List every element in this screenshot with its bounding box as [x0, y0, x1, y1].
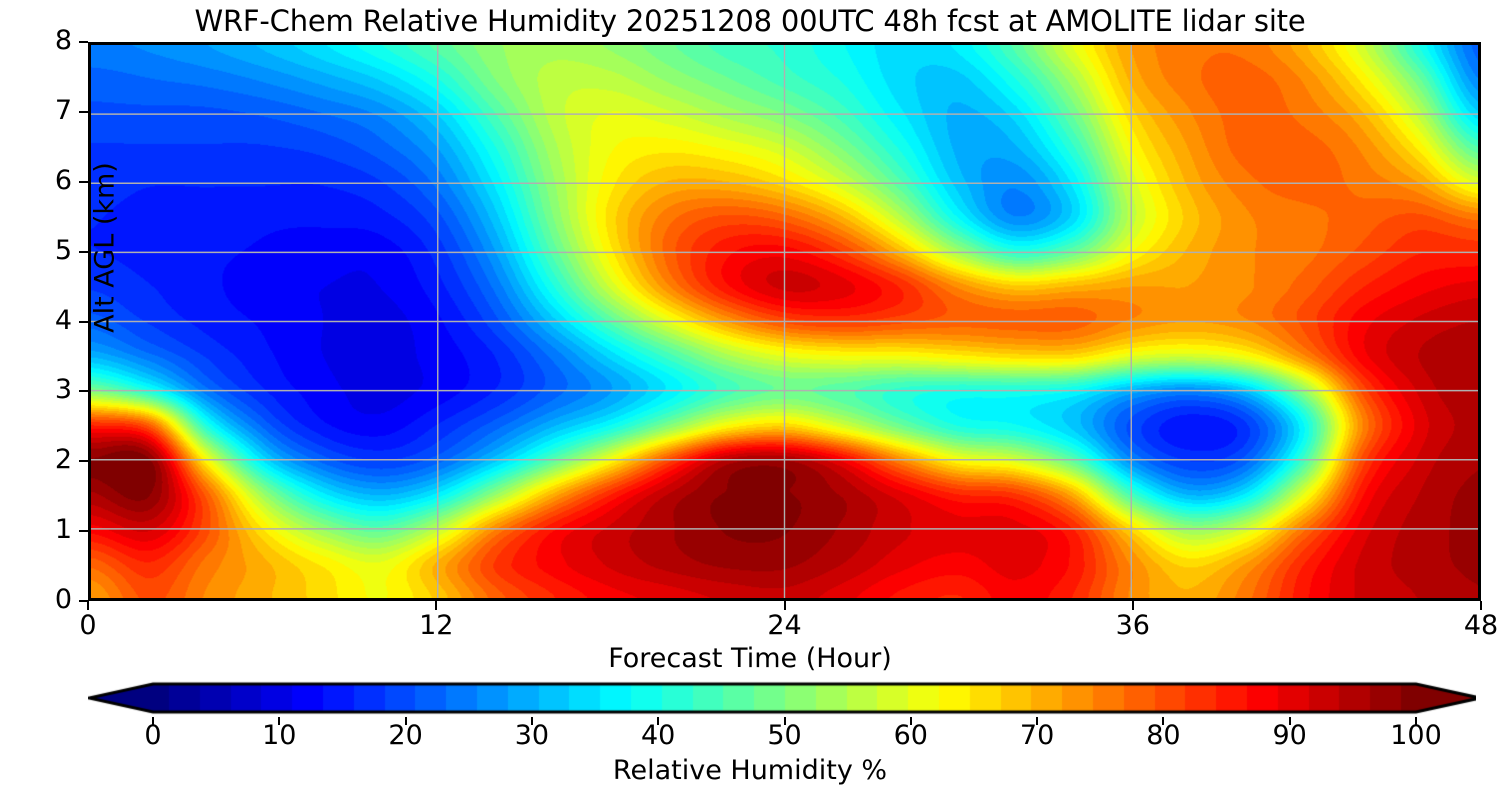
y-tick-label: 6	[10, 167, 72, 194]
y-tick-mark	[79, 181, 88, 183]
x-tick-mark	[1480, 601, 1482, 610]
colorbar-tick-label: 70	[992, 722, 1082, 749]
relative-humidity-heatmap	[91, 45, 1478, 598]
colorbar	[88, 679, 1476, 717]
x-tick-mark	[435, 601, 437, 610]
y-tick-label: 2	[10, 446, 72, 473]
x-tick-label: 12	[391, 612, 481, 639]
colorbar-gradient	[88, 679, 1476, 717]
y-tick-label: 1	[10, 516, 72, 543]
figure-canvas: WRF-Chem Relative Humidity 20251208 00UT…	[0, 0, 1500, 800]
x-axis-label: Forecast Time (Hour)	[0, 643, 1500, 674]
y-tick-label: 0	[10, 586, 72, 613]
y-tick-mark	[79, 530, 88, 532]
y-tick-mark	[79, 321, 88, 323]
colorbar-tick-label: 90	[1245, 722, 1335, 749]
colorbar-label: Relative Humidity %	[0, 755, 1500, 786]
x-tick-label: 48	[1436, 612, 1500, 639]
plot-axes	[88, 42, 1481, 601]
y-tick-label: 8	[10, 27, 72, 54]
colorbar-tick-label: 30	[487, 722, 577, 749]
colorbar-tick-label: 100	[1371, 722, 1461, 749]
y-tick-label: 3	[10, 376, 72, 403]
y-tick-mark	[79, 390, 88, 392]
y-tick-mark	[79, 111, 88, 113]
x-tick-label: 0	[43, 612, 133, 639]
colorbar-tick-label: 40	[613, 722, 703, 749]
x-tick-mark	[784, 601, 786, 610]
x-tick-label: 36	[1088, 612, 1178, 639]
colorbar-tick-label: 0	[108, 722, 198, 749]
x-tick-label: 24	[740, 612, 830, 639]
y-tick-mark	[79, 41, 88, 43]
x-tick-mark	[87, 601, 89, 610]
page-title: WRF-Chem Relative Humidity 20251208 00UT…	[0, 4, 1500, 38]
colorbar-tick-label: 60	[866, 722, 956, 749]
colorbar-tick-label: 50	[740, 722, 830, 749]
x-tick-mark	[1132, 601, 1134, 610]
y-tick-mark	[79, 460, 88, 462]
colorbar-tick-label: 10	[234, 722, 324, 749]
colorbar-tick-label: 20	[361, 722, 451, 749]
colorbar-tick-label: 80	[1118, 722, 1208, 749]
y-tick-label: 4	[10, 307, 72, 334]
y-tick-label: 7	[10, 97, 72, 124]
y-tick-label: 5	[10, 237, 72, 264]
y-tick-mark	[79, 251, 88, 253]
y-axis-label: Alt AGL (km)	[90, 133, 121, 363]
